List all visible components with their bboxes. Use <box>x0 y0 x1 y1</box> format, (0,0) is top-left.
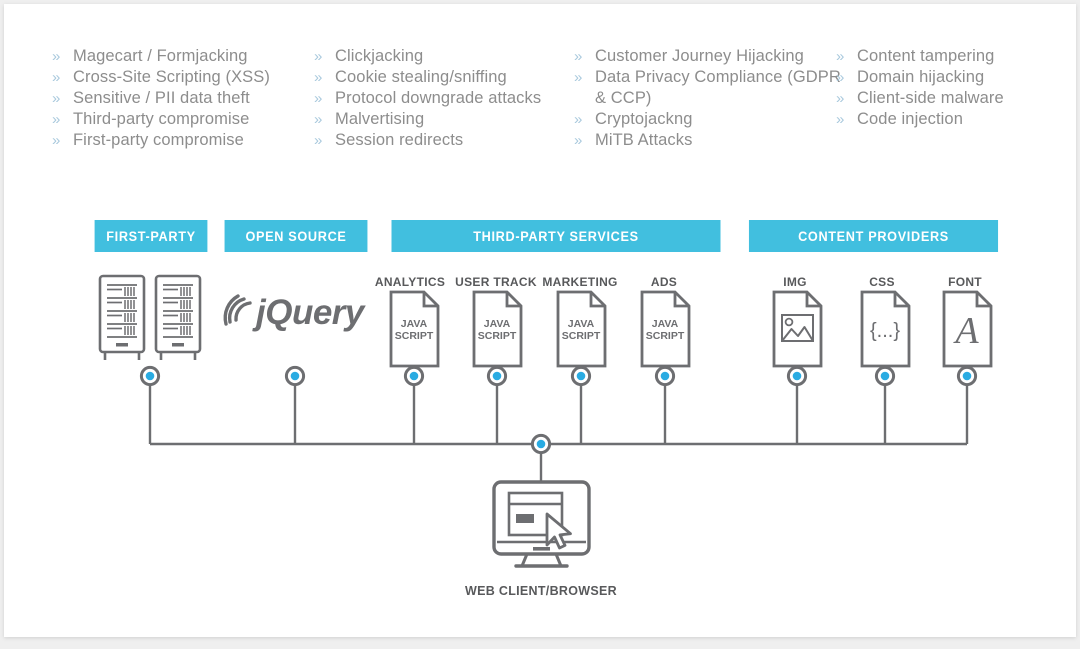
connection-dot[interactable] <box>286 367 303 384</box>
javascript-file-icon: JAVA SCRIPT <box>558 292 605 366</box>
connection-dot[interactable] <box>788 367 805 384</box>
connector-lines <box>150 376 967 482</box>
css-file-icon: {...} <box>862 292 909 366</box>
svg-text:SCRIPT: SCRIPT <box>646 330 685 342</box>
server-rack-icon <box>100 276 200 360</box>
diagram-card: »Magecart / Formjacking »Cross-Site Scri… <box>4 4 1076 637</box>
svg-text:JAVA: JAVA <box>568 318 595 330</box>
image-file-icon <box>774 292 821 366</box>
monitor-browser-icon <box>494 482 589 566</box>
connection-dot[interactable] <box>405 367 422 384</box>
connection-dot[interactable] <box>958 367 975 384</box>
jquery-logo-icon: jQuery <box>225 293 366 332</box>
connection-dot[interactable] <box>656 367 673 384</box>
connection-diagram: jQuery JAVA SCRIPT JAVA SCRIPT JAVA SCRI… <box>4 4 1076 637</box>
font-file-glyph: A <box>952 310 979 352</box>
javascript-file-icon: JAVA SCRIPT <box>474 292 521 366</box>
javascript-file-icon: JAVA SCRIPT <box>391 292 438 366</box>
connection-dot-hub[interactable] <box>532 435 549 452</box>
connection-dots <box>141 367 975 452</box>
svg-text:JAVA: JAVA <box>652 318 679 330</box>
svg-text:JAVA: JAVA <box>484 318 511 330</box>
connection-dot[interactable] <box>141 367 158 384</box>
jquery-wordmark: jQuery <box>252 293 366 332</box>
font-file-icon: A <box>944 292 991 366</box>
connection-dot[interactable] <box>876 367 893 384</box>
svg-text:SCRIPT: SCRIPT <box>395 330 434 342</box>
connection-dot[interactable] <box>572 367 589 384</box>
javascript-file-icon: JAVA SCRIPT <box>642 292 689 366</box>
svg-text:SCRIPT: SCRIPT <box>478 330 517 342</box>
svg-text:SCRIPT: SCRIPT <box>562 330 601 342</box>
connection-dot[interactable] <box>488 367 505 384</box>
svg-text:JAVA: JAVA <box>401 318 428 330</box>
css-file-glyph: {...} <box>870 320 900 342</box>
